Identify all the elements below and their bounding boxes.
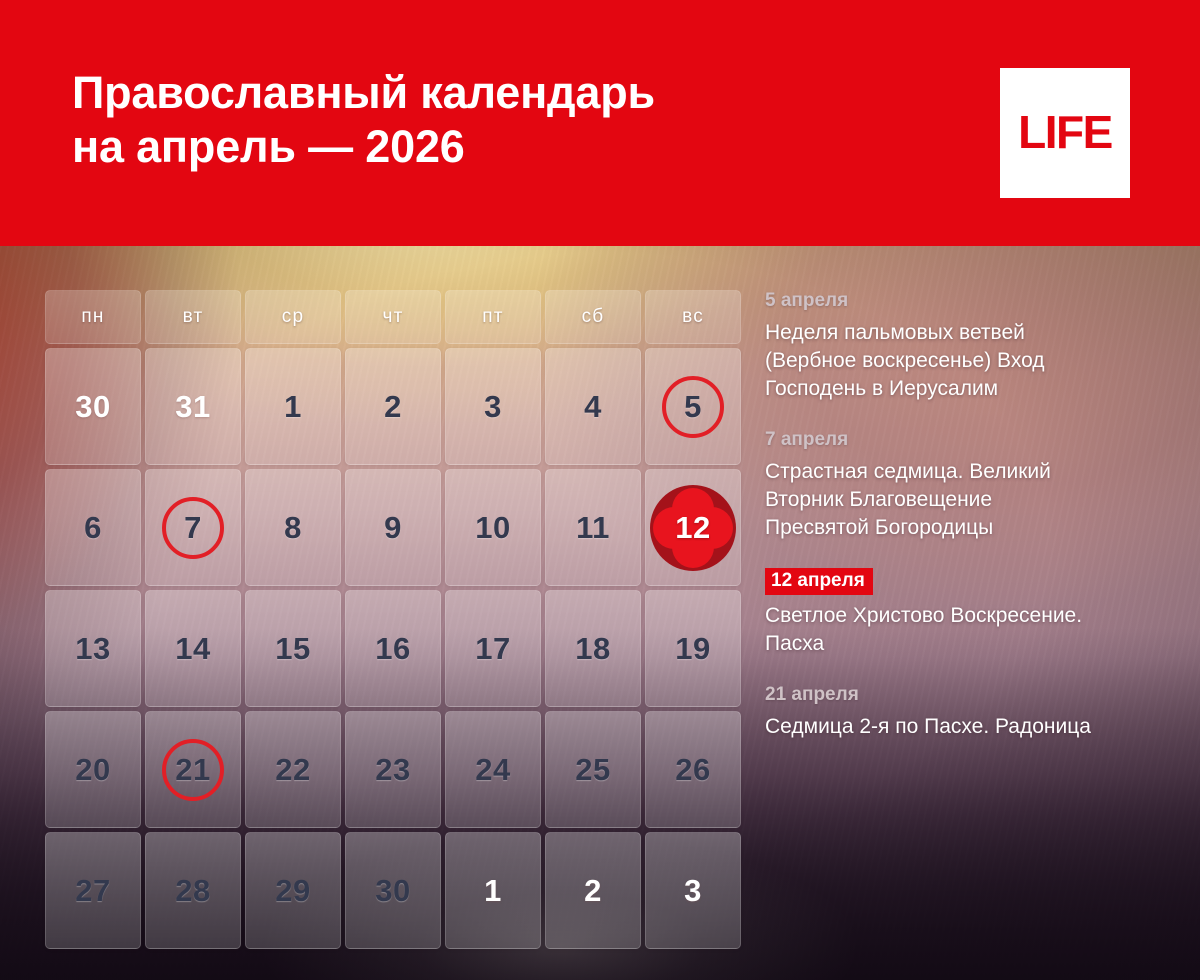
calendar-day-number: 8 [284,510,302,546]
calendar-day-cell[interactable]: 10 [445,469,541,586]
events-list: 5 апреляНеделя пальмовых ветвей (Вербное… [765,290,1165,741]
calendar-day-cell[interactable]: 3 [645,832,741,949]
calendar-week-row: 303112345 [45,348,745,465]
event-date-wrap: 12 апреля [765,568,1165,602]
calendar-day-cell[interactable]: 1 [445,832,541,949]
event-item: 7 апреляСтрастная седмица. Великий Вторн… [765,429,1165,542]
life-logo[interactable]: LIFE [1000,68,1130,198]
calendar-day-number: 17 [475,631,510,667]
calendar-weekday-cell: пн [45,290,141,344]
calendar-weekday-label: ср [282,306,304,328]
event-date-badge: 12 апреля [765,568,873,595]
event-description: Седмица 2-я по Пасхе. Радоница [765,713,1165,741]
calendar-day-number: 5 [684,389,702,425]
calendar-day-cell[interactable]: 11 [545,469,641,586]
calendar-day-cell[interactable]: 15 [245,590,341,707]
calendar-day-number: 12 [675,510,710,546]
event-date-wrap: 7 апреля [765,429,1165,458]
calendar-day-number: 30 [75,389,110,425]
calendar-day-cell[interactable]: 9 [345,469,441,586]
calendar-day-number: 18 [575,631,610,667]
calendar-day-number: 26 [675,752,710,788]
calendar-day-cell[interactable]: 2 [345,348,441,465]
event-description: Страстная седмица. Великий Вторник Благо… [765,458,1165,542]
calendar-week-row: 6789101112 [45,469,745,586]
calendar-weekday-cell: вс [645,290,741,344]
calendar-weekday-cell: пт [445,290,541,344]
calendar-day-cell[interactable]: 20 [45,711,141,828]
event-item: 5 апреляНеделя пальмовых ветвей (Вербное… [765,290,1165,403]
event-item: 21 апреляСедмица 2-я по Пасхе. Радоница [765,684,1165,741]
calendar-day-cell[interactable]: 25 [545,711,641,828]
calendar-day-cell[interactable]: 6 [45,469,141,586]
calendar-day-cell[interactable]: 1 [245,348,341,465]
calendar-day-cell[interactable]: 12 [645,469,741,586]
calendar-day-cell[interactable]: 24 [445,711,541,828]
calendar-day-number: 22 [275,752,310,788]
calendar-day-number: 31 [175,389,210,425]
calendar-body: 3031123456789101112131415161718192021222… [45,348,745,949]
calendar-day-number: 23 [375,752,410,788]
logo-text: LIFE [1018,109,1112,155]
event-item: 12 апреляСветлое Христово Воскресение. П… [765,568,1165,658]
calendar-weekday-cell: чт [345,290,441,344]
calendar-day-number: 1 [484,873,502,909]
calendar-day-cell[interactable]: 19 [645,590,741,707]
event-date-label: 5 апреля [765,290,848,312]
calendar-day-cell[interactable]: 13 [45,590,141,707]
calendar-weekday-row: пнвтсрчтптсбвс [45,290,745,344]
calendar-day-number: 3 [484,389,502,425]
calendar-weekday-label: вт [183,306,204,328]
calendar-weekday-label: чт [382,306,403,328]
page-title: Православный календарь на апрель — 2026 [72,66,655,174]
calendar-weekday-label: вс [682,306,704,328]
calendar-grid: пнвтсрчтптсбвс 3031123456789101112131415… [45,290,745,953]
calendar-day-cell[interactable]: 31 [145,348,241,465]
calendar-day-cell[interactable]: 28 [145,832,241,949]
event-date-wrap: 21 апреля [765,684,1165,713]
calendar-day-number: 7 [184,510,202,546]
calendar-day-number: 29 [275,873,310,909]
calendar-day-number: 30 [375,873,410,909]
calendar-day-cell[interactable]: 8 [245,469,341,586]
calendar-weekday-cell: вт [145,290,241,344]
calendar-day-cell[interactable]: 5 [645,348,741,465]
calendar-day-number: 25 [575,752,610,788]
calendar-weekday-label: сб [582,306,605,328]
calendar-day-number: 27 [75,873,110,909]
calendar-day-cell[interactable]: 29 [245,832,341,949]
calendar-weekday-label: пт [482,306,503,328]
calendar-weekday-cell: сб [545,290,641,344]
calendar-day-cell[interactable]: 4 [545,348,641,465]
calendar-day-number: 24 [475,752,510,788]
calendar-day-number: 2 [384,389,402,425]
header-banner: Православный календарь на апрель — 2026 … [0,0,1200,246]
calendar-day-number: 4 [584,389,602,425]
calendar-day-number: 1 [284,389,302,425]
calendar-day-cell[interactable]: 2 [545,832,641,949]
calendar-day-cell[interactable]: 27 [45,832,141,949]
calendar-day-number: 28 [175,873,210,909]
calendar-day-cell[interactable]: 7 [145,469,241,586]
event-description: Неделя пальмовых ветвей (Вербное воскрес… [765,319,1165,403]
calendar-day-number: 11 [576,510,610,546]
calendar-day-number: 19 [675,631,710,667]
calendar-day-cell[interactable]: 16 [345,590,441,707]
calendar-day-cell[interactable]: 18 [545,590,641,707]
calendar-day-cell[interactable]: 17 [445,590,541,707]
calendar-day-cell[interactable]: 30 [345,832,441,949]
calendar-day-number: 6 [84,510,102,546]
calendar-day-cell[interactable]: 26 [645,711,741,828]
calendar-day-cell[interactable]: 23 [345,711,441,828]
calendar-weekday-cell: ср [245,290,341,344]
calendar-week-row: 20212223242526 [45,711,745,828]
event-date-label: 7 апреля [765,429,848,451]
calendar-day-cell[interactable]: 21 [145,711,241,828]
calendar-day-cell[interactable]: 30 [45,348,141,465]
event-description: Светлое Христово Воскресение. Пасха [765,602,1165,658]
calendar-day-number: 14 [175,631,210,667]
calendar-day-number: 9 [384,510,402,546]
calendar-day-number: 21 [175,752,210,788]
calendar-week-row: 27282930123 [45,832,745,949]
calendar-day-number: 20 [75,752,110,788]
calendar-week-row: 13141516171819 [45,590,745,707]
event-date-wrap: 5 апреля [765,290,1165,319]
calendar-day-number: 10 [475,510,510,546]
calendar-day-number: 16 [375,631,410,667]
calendar-day-cell[interactable]: 3 [445,348,541,465]
calendar-day-number: 13 [75,631,110,667]
calendar-day-cell[interactable]: 22 [245,711,341,828]
content-area: пнвтсрчтптсбвс 3031123456789101112131415… [0,246,1200,980]
calendar-day-number: 15 [275,631,310,667]
event-date-label: 21 апреля [765,684,859,706]
calendar-day-number: 2 [584,873,602,909]
calendar-day-number: 3 [684,873,702,909]
calendar-weekday-label: пн [81,306,104,328]
calendar-day-cell[interactable]: 14 [145,590,241,707]
